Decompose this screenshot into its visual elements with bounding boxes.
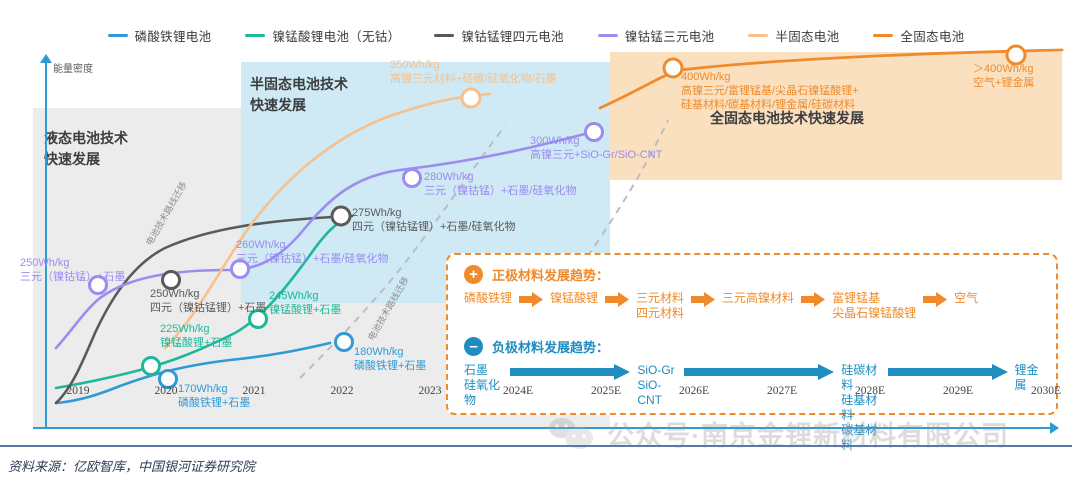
chain-arrow-neg-0 <box>510 364 630 380</box>
annotation-180: 180Wh/kg 磷酸铁锂+石墨 <box>354 345 426 373</box>
anode-header: – 负极材料发展趋势： <box>464 337 609 356</box>
legend-swatch <box>873 34 893 37</box>
annotation-300: 300Wh/kg 高镍三元+SiO-Gr/SiO-CNT <box>530 134 662 162</box>
chain-arrow-pos-4 <box>923 292 947 307</box>
annotation-280: 280Wh/kg 三元（镍钴锰）+石墨/硅氧化物 <box>424 170 576 198</box>
legend-item-5[interactable]: 全固态电池 <box>873 26 964 45</box>
chain-arrow-pos-0 <box>519 292 543 307</box>
chain-item-pos-5: 空气 <box>954 291 978 306</box>
legend-swatch <box>108 34 128 37</box>
x-tick-2025E: 2025E <box>591 385 621 397</box>
y-axis-label: 能量密度 <box>53 60 93 75</box>
chain-arrow-neg-2 <box>888 364 1008 380</box>
footer-divider <box>0 445 1072 447</box>
x-tick-2020: 2020 <box>155 385 178 397</box>
chain-item-pos-0: 磷酸铁锂 <box>464 291 512 306</box>
x-tick-2022: 2022 <box>331 385 354 397</box>
legend-label: 镍钴锰三元电池 <box>625 26 715 45</box>
x-tick-2021: 2021 <box>243 385 266 397</box>
legend-swatch <box>598 34 618 37</box>
x-axis-ticks: 201920202021202220232024E2025E2026E2027E… <box>0 385 1072 405</box>
legend-item-0[interactable]: 磷酸铁锂电池 <box>108 26 212 45</box>
annotation-250-ncm: 250Wh/kg 三元（镍钴锰）+石墨 <box>20 256 125 284</box>
legend-swatch <box>748 34 768 37</box>
x-tick-2028E: 2028E <box>855 385 885 397</box>
y-axis-line <box>45 62 47 427</box>
legend-label: 镍锰酸锂电池（无钴） <box>272 26 400 45</box>
chain-arrow-pos-3 <box>801 292 825 307</box>
legend-swatch <box>434 34 454 37</box>
chain-item-pos-1: 镍锰酸锂 <box>550 291 598 306</box>
legend-item-2[interactable]: 镍钴锰锂四元电池 <box>434 26 563 45</box>
plus-icon: + <box>464 265 483 284</box>
annotation-350: 350Wh/kg 高镍三元材料+硅碳/硅氧化物/石墨 <box>390 58 557 86</box>
chain-item-pos-4: 富锂锰基 尖晶石镍锰酸锂 <box>832 291 916 321</box>
legend-label: 半固态电池 <box>775 26 839 45</box>
annotation-245: 245Wh/kg 镍锰酸锂+石墨 <box>269 289 341 317</box>
legend-label: 镍钴锰锂四元电池 <box>461 26 563 45</box>
x-tick-2027E: 2027E <box>767 385 797 397</box>
chain-arrow-neg-1 <box>684 364 834 380</box>
legend-item-4[interactable]: 半固态电池 <box>748 26 839 45</box>
legend-swatch <box>245 34 265 37</box>
legend-label: 磷酸铁锂电池 <box>135 26 212 45</box>
cathode-header: + 正极材料发展趋势： <box>464 265 609 284</box>
minus-icon: – <box>464 337 483 356</box>
annotation-250-quad: 250Wh/kg 四元（镍钴锰锂）+石墨 <box>150 287 266 315</box>
chain-item-pos-3: 三元高镍材料 <box>722 291 794 306</box>
x-axis-arrow <box>1050 422 1059 434</box>
legend-item-3[interactable]: 镍钴锰三元电池 <box>598 26 715 45</box>
cathode-title: 正极材料发展趋势： <box>492 265 609 284</box>
annotation-260: 260Wh/kg 三元（镍钴锰）+石墨/硅氧化物 <box>236 238 388 266</box>
chain-item-neg-2: 硅碳材料 硅基材料 碳基材料 <box>841 363 880 453</box>
x-tick-2030E: 2030E <box>1031 385 1061 397</box>
x-tick-2029E: 2029E <box>943 385 973 397</box>
legend-label: 全固态电池 <box>900 26 964 45</box>
chart-legend: 磷酸铁锂电池镍锰酸锂电池（无钴）镍钴锰锂四元电池镍钴锰三元电池半固态电池全固态电… <box>0 22 1072 48</box>
x-tick-2023: 2023 <box>419 385 442 397</box>
cathode-chain: 磷酸铁锂镍锰酸锂三元材料 四元材料三元高镍材料富锂锰基 尖晶石镍锰酸锂空气 <box>464 291 1044 321</box>
plot-area: 液态电池技术 快速发展 半固态电池技术 快速发展 全固态电池技术快速发展 <box>0 48 1072 436</box>
anode-title: 负极材料发展趋势： <box>492 337 609 356</box>
source-note: 资料来源：亿欧智库，中国银河证券研究院 <box>8 456 255 475</box>
legend-item-1[interactable]: 镍锰酸锂电池（无钴） <box>245 26 400 45</box>
x-tick-2026E: 2026E <box>679 385 709 397</box>
chain-arrow-pos-1 <box>605 292 629 307</box>
x-tick-2019: 2019 <box>67 385 90 397</box>
annotation-225: 225Wh/kg 镍锰酸锂+石墨 <box>160 322 232 350</box>
annotation-400: 400Wh/kg 高镍三元/富锂锰基/尖晶石镍锰酸锂+ 硅基材料/碳基材料/锂金… <box>681 70 859 112</box>
x-axis-line <box>33 427 1053 429</box>
annotation-over400: ＞400Wh/kg 空气+锂金属 <box>973 62 1034 90</box>
annotation-275: 275Wh/kg 四元（镍钴锰锂）+石墨/硅氧化物 <box>352 206 515 234</box>
chain-arrow-pos-2 <box>691 292 715 307</box>
chain-item-pos-2: 三元材料 四元材料 <box>636 291 684 321</box>
x-tick-2024E: 2024E <box>503 385 533 397</box>
chart-root: 磷酸铁锂电池镍锰酸锂电池（无钴）镍钴锰锂四元电池镍钴锰三元电池半固态电池全固态电… <box>0 0 1072 484</box>
anode-chain: 石墨 硅氧化物SiO-Gr SiO-CNT硅碳材料 硅基材料 碳基材料锂金属 <box>464 363 1044 453</box>
